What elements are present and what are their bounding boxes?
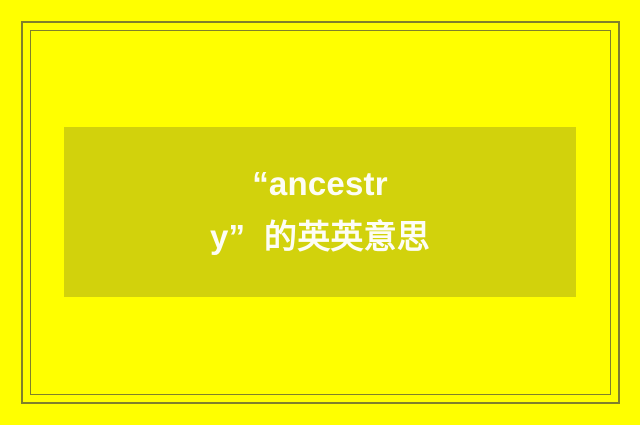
page-canvas: “ancestr y” 的英英意思 <box>0 0 640 425</box>
title-card: “ancestr y” 的英英意思 <box>64 127 576 297</box>
title-line-2: y” 的英英意思 <box>170 210 470 263</box>
title-line-1: “ancestr <box>170 157 470 210</box>
title-text-block: “ancestr y” 的英英意思 <box>170 157 470 264</box>
